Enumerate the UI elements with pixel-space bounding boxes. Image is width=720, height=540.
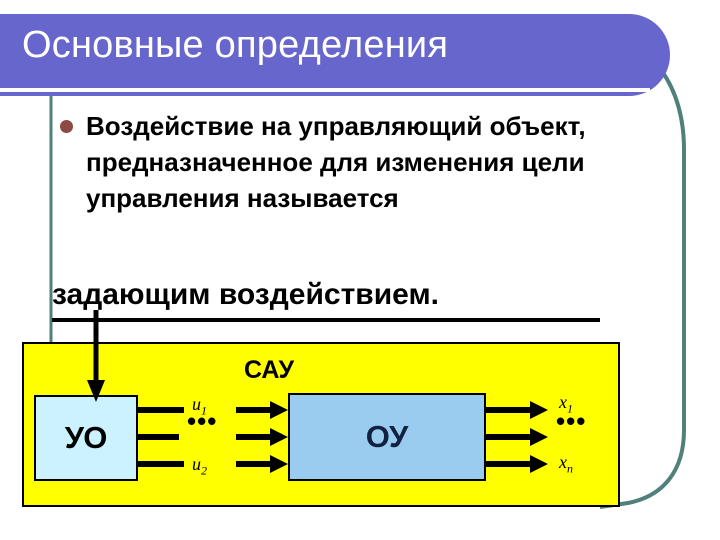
emphasis-text: задающим воздействием. [52,278,439,312]
plant-box-ou: ОУ [288,393,486,481]
bullet-dot-icon [60,120,73,133]
output-signal-ellipsis: ••• [556,417,586,425]
plant-box-label: ОУ [366,419,409,455]
input-arrow-to-controller [70,310,130,405]
input-signal-ellipsis: ••• [187,417,217,425]
bullet-item: Воздействие на управляющий объект, предн… [60,108,620,216]
input-signal-label-u2: u2 [192,454,207,479]
bullet-text: Воздействие на управляющий объект, предн… [60,108,620,216]
page-title: Основные определения [22,24,448,67]
emphasis-underline [52,318,600,322]
controller-box-uo: УО [34,395,138,481]
controller-box-label: УО [65,420,108,456]
sau-label: САУ [214,356,324,385]
slide-canvas: Основные определения Воздействие на упра… [0,0,720,540]
output-signal-label-xn: xn [559,452,573,477]
title-underline-rule [0,88,650,92]
